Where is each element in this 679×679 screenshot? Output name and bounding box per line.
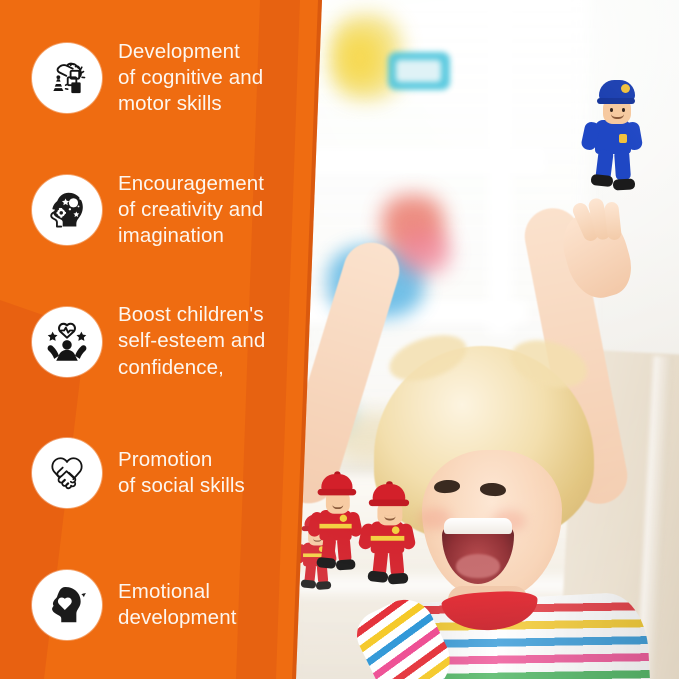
benefit-text: Boost children's self-esteem and confide… <box>118 302 265 380</box>
benefit-item-boost-self-esteem-confidence: Boost children's self-esteem and confide… <box>0 294 320 390</box>
police-eye-right <box>622 108 625 112</box>
teeth <box>444 518 512 534</box>
finger-3 <box>604 201 622 240</box>
blurred-teal-box-label <box>396 60 441 82</box>
police-helmet-badge <box>621 84 630 93</box>
firefighter2-stripe <box>371 536 405 541</box>
infographic-canvas: Development of cognitive and motor skill… <box>0 0 679 679</box>
benefit-text: Development of cognitive and motor skill… <box>118 39 263 117</box>
child <box>330 150 679 679</box>
benefit-text: Encouragement of creativity and imaginat… <box>118 171 264 249</box>
firefighter1-shoe-right <box>336 559 356 570</box>
police-eye-left <box>610 108 613 112</box>
police-leg-right <box>614 150 631 181</box>
police-shoe-left <box>590 174 613 187</box>
benefits-list: Development of cognitive and motor skill… <box>0 0 320 679</box>
benefit-item-encouragement-creativity-imagination: Encouragement of creativity and imaginat… <box>0 162 320 258</box>
benefit-text: Emotional development <box>118 579 237 631</box>
police-shoe-right <box>613 178 636 190</box>
person-arms-raised-heart-stars-icon <box>32 307 102 377</box>
police-helmet-brim <box>597 98 635 104</box>
hand-stacking-blocks-icon <box>32 43 102 113</box>
benefit-text: Promotion of social skills <box>118 447 245 499</box>
blurred-yellow-toy-core <box>338 32 382 84</box>
toy-police-figure <box>585 80 639 190</box>
benefit-item-development-cognitive-motor: Development of cognitive and motor skill… <box>0 30 320 126</box>
firefighter1-helmet-brim <box>318 489 357 495</box>
firefighter1-badge <box>340 515 347 522</box>
police-chest-badge <box>619 134 627 143</box>
firefighter2-badge <box>392 526 400 534</box>
benefit-item-promotion-social-skills: Promotion of social skills <box>0 425 320 521</box>
firefighter2-shoe-right <box>388 573 409 585</box>
handshake-heart-icon <box>32 438 102 508</box>
toy-firefighter-figure-2 <box>363 484 413 584</box>
firefighter2-shoe-left <box>367 570 388 583</box>
tongue <box>456 554 500 578</box>
benefit-item-emotional-development: Emotional development <box>0 557 320 653</box>
firefighter2-helmet-brim <box>369 499 409 506</box>
head-with-heart-icon <box>32 570 102 640</box>
head-with-stars-and-gear-icon <box>32 175 102 245</box>
firefighter1-stripe <box>319 524 351 529</box>
